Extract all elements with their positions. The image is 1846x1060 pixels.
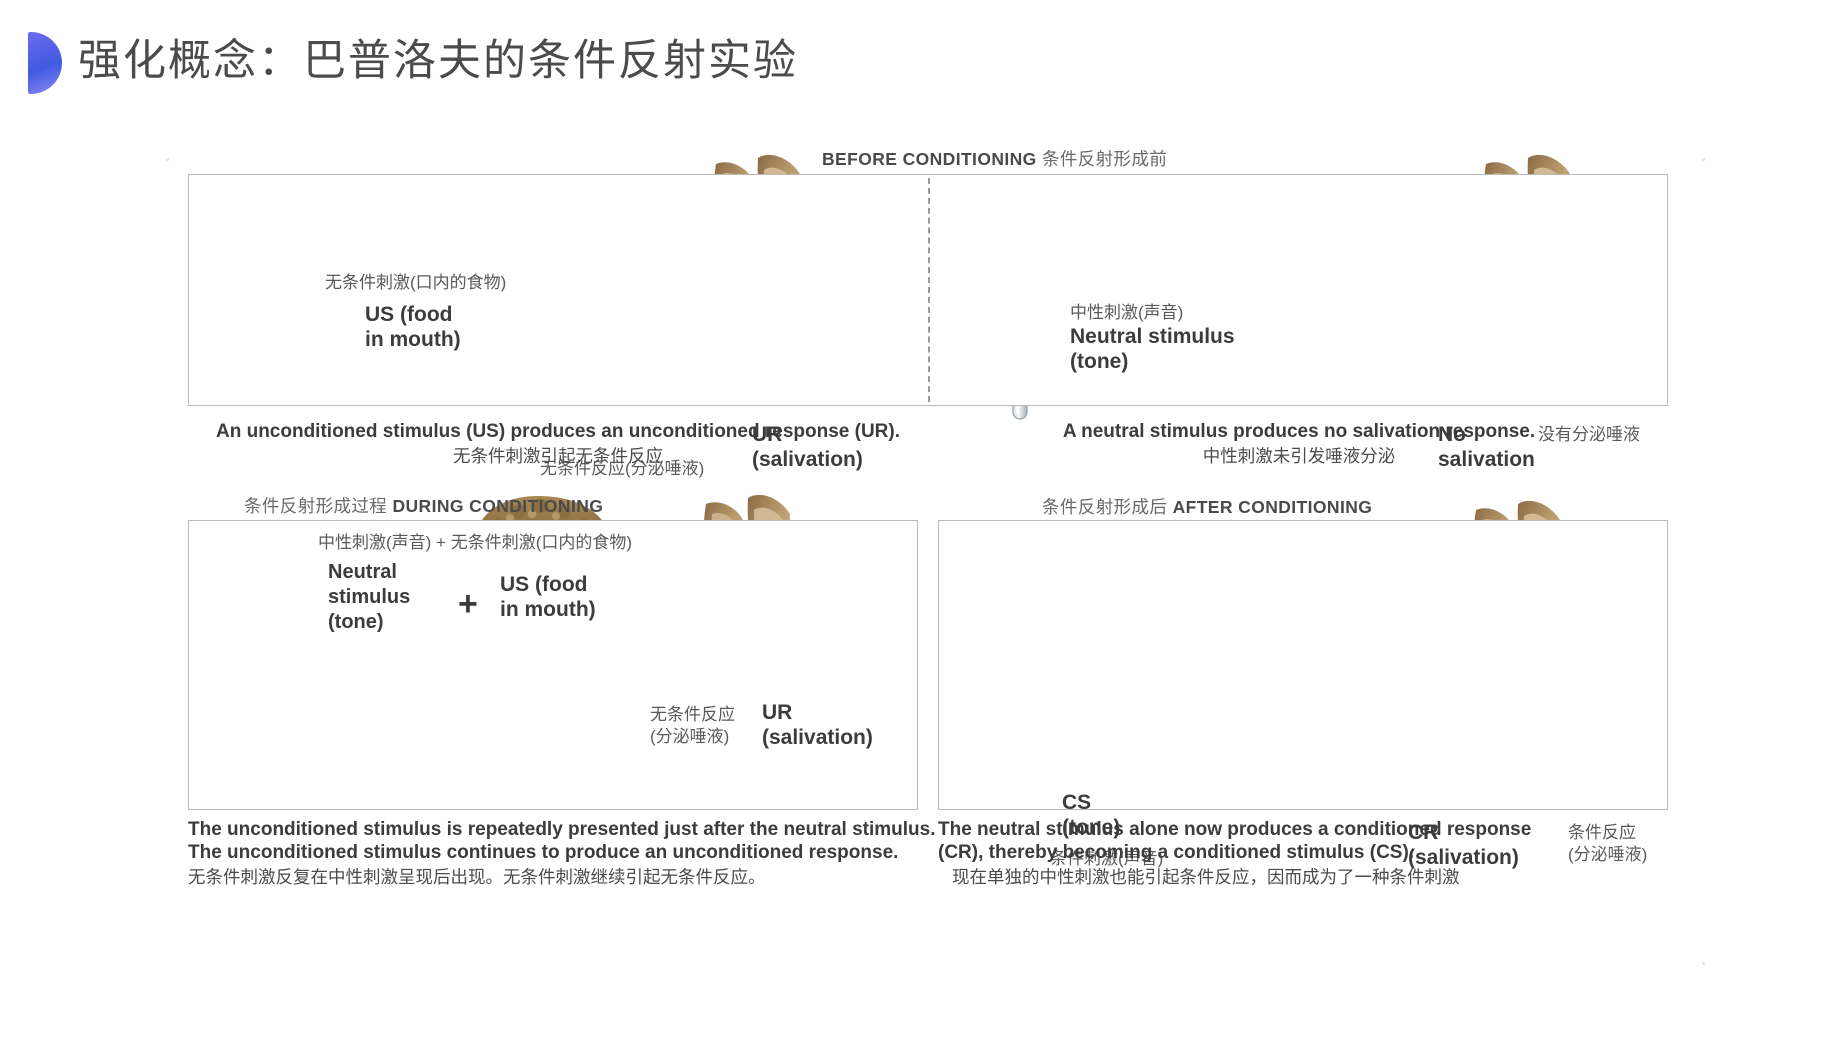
caption-after: The neutral stimulus alone now produces … (938, 818, 1531, 890)
header-cn: 条件反射形成后 (1042, 497, 1167, 517)
caption-before-left: An unconditioned stimulus (US) produces … (188, 420, 928, 469)
label-ur-en-during: UR (salivation) (762, 700, 873, 750)
label-us-en-2: in mouth) (365, 327, 461, 352)
label-us-cn: 无条件刺激(口内的食物) (325, 272, 506, 294)
caption-en-2: The unconditioned stimulus continues to … (188, 841, 935, 864)
panel-during-conditioning (188, 520, 918, 810)
label-ns-en-2: (tone) (1070, 349, 1235, 374)
label-cs-en-1: CS (1062, 790, 1120, 815)
caption-cn: 现在单独的中性刺激也能引起条件反应，因而成为了一种条件刺激 (938, 864, 1531, 890)
label-ur-cn-during: 无条件反应 (分泌唾液) (650, 704, 735, 748)
header-cn: 条件反射形成前 (1042, 149, 1167, 169)
panel-header-during: 条件反射形成过程 DURING CONDITIONING (244, 493, 603, 518)
label-us-left: 无条件刺激(口内的食物) (325, 272, 506, 294)
panel-header-after: 条件反射形成后 AFTER CONDITIONING (1042, 494, 1372, 519)
pavlov-diagram: BEFORE CONDITIONING 条件反射形成前 无条件刺激(口内的食物)… (0, 120, 1846, 1000)
panel-divider (928, 178, 930, 402)
label-us-en-left: US (food in mouth) (365, 302, 461, 352)
page-title: 强化概念：巴普洛夫的条件反射实验 (78, 26, 798, 88)
panel-header-before: BEFORE CONDITIONING 条件反射形成前 (822, 146, 1167, 171)
caption-en: An unconditioned stimulus (US) produces … (188, 420, 928, 443)
label-us-2: in mouth) (500, 597, 596, 622)
title-marker-icon (28, 32, 62, 94)
caption-en-1: The unconditioned stimulus is repeatedly… (188, 818, 935, 841)
caption-en-2: (CR), thereby becoming a conditioned sti… (938, 841, 1531, 864)
caption-cn: 中性刺激未引发唾液分泌 (930, 443, 1668, 469)
label-cr-cn: 条件反应 (分泌唾液) (1568, 822, 1647, 866)
label-cr-cn-2: (分泌唾液) (1568, 844, 1647, 866)
label-us-during: US (food in mouth) (500, 572, 596, 622)
caption-en: A neutral stimulus produces no salivatio… (930, 420, 1668, 443)
header-cn: 条件反射形成过程 (244, 496, 387, 516)
decor-dot (1702, 158, 1705, 161)
caption-during: The unconditioned stimulus is repeatedly… (188, 818, 935, 890)
panel-after-conditioning (938, 520, 1668, 810)
caption-en-1: The neutral stimulus alone now produces … (938, 818, 1531, 841)
label-ns-1: Neutral (328, 560, 410, 585)
label-ur-cn-1: 无条件反应 (650, 704, 735, 726)
label-us-1: US (food (500, 572, 596, 597)
label-us-en-1: US (food (365, 302, 461, 327)
header-en: DURING CONDITIONING (392, 496, 603, 516)
header-en: BEFORE CONDITIONING (822, 149, 1037, 169)
caption-cn: 无条件刺激引起无条件反应 (188, 443, 928, 469)
slide-title-row: 强化概念：巴普洛夫的条件反射实验 (0, 26, 1846, 98)
label-ns-cn: 中性刺激(声音) (1070, 302, 1235, 324)
header-en: AFTER CONDITIONING (1173, 497, 1373, 517)
label-ur-cn-2: (分泌唾液) (650, 726, 735, 748)
label-cr-cn-1: 条件反应 (1568, 822, 1647, 844)
decor-dot (166, 158, 169, 161)
label-ns-plus-us-cn: 中性刺激(声音) + 无条件刺激(口内的食物) (318, 532, 632, 554)
label-ns-en-1: Neutral stimulus (1070, 324, 1235, 349)
caption-before-right: A neutral stimulus produces no salivatio… (930, 420, 1668, 469)
plus-sign: + (458, 585, 478, 624)
caption-cn: 无条件刺激反复在中性刺激呈现后出现。无条件刺激继续引起无条件反应。 (188, 864, 935, 890)
label-neutral-stimulus: Neutral stimulus (tone) (328, 560, 410, 635)
label-ns-2: stimulus (328, 585, 410, 610)
label-ur-en-1: UR (762, 700, 873, 725)
label-ns-3: (tone) (328, 610, 410, 635)
label-ns-right: 中性刺激(声音) Neutral stimulus (tone) (1070, 302, 1235, 374)
label-cn: 中性刺激(声音) + 无条件刺激(口内的食物) (318, 532, 632, 554)
decor-dot (1702, 962, 1705, 965)
label-ur-en-2: (salivation) (762, 725, 873, 750)
